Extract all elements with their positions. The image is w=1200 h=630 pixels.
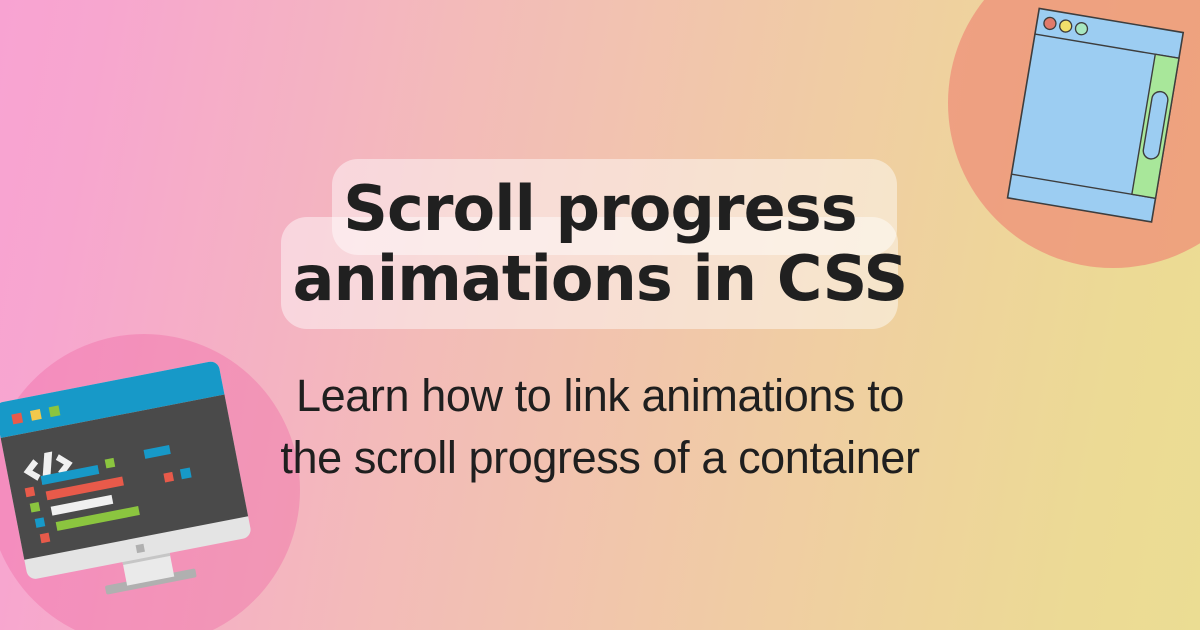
page-title: Scroll progress animations in CSS xyxy=(280,154,920,335)
title-highlight-group: Scroll progress animations in CSS xyxy=(280,154,920,335)
og-card: Scroll progress animations in CSS Learn … xyxy=(0,0,1200,630)
page-subtitle: Learn how to link animations to the scro… xyxy=(185,365,1015,489)
card-content: Scroll progress animations in CSS Learn … xyxy=(0,0,1200,630)
